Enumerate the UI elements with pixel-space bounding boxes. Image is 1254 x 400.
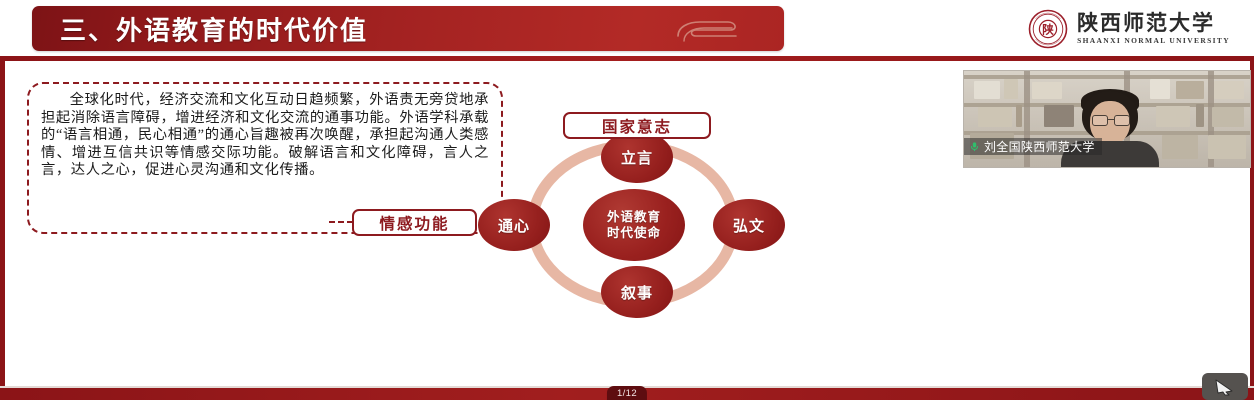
- page-indicator: 1/12: [607, 386, 647, 400]
- glasses-bridge: [1107, 119, 1114, 120]
- book: [1150, 79, 1170, 99]
- book: [1208, 135, 1246, 159]
- book: [1044, 105, 1074, 127]
- speaker-name-text: 刘全国陕西师范大学: [984, 138, 1095, 155]
- body-paragraph: 全球化时代，经济交流和文化互动日趋频繁，外语责无旁贷地承担起消除语言障碍，增进经…: [29, 84, 501, 186]
- book: [1156, 106, 1190, 127]
- book: [1162, 135, 1198, 159]
- diagram-center-line2: 时代使命: [607, 225, 661, 241]
- nav-pointer-button[interactable]: [1202, 373, 1248, 400]
- slide-root: 三、外语教育的时代价值 陕 陕西师范大学 SHAANXI NORMAL UNIV…: [0, 0, 1254, 400]
- diagram-node-right: 弘文: [713, 199, 785, 251]
- pointer-arrow-icon: [1212, 378, 1238, 396]
- callout-emotional-function: 情感功能: [352, 209, 477, 236]
- book: [1176, 81, 1204, 99]
- left-accent-rail: [0, 61, 5, 388]
- callout-connector-line: [329, 221, 353, 223]
- header-divider: [0, 56, 1254, 61]
- page-title: 三、外语教育的时代价值: [60, 10, 368, 47]
- book: [1212, 107, 1244, 127]
- glasses-lens-left: [1092, 115, 1108, 126]
- diagram-node-bottom: 叙事: [601, 266, 673, 318]
- logo-name-cn: 陕西师范大学: [1077, 13, 1230, 34]
- speaker-name-badge: 刘全国陕西师范大学: [964, 138, 1102, 155]
- book: [1196, 104, 1204, 127]
- mission-diagram: 国家意志 情感功能 立言 弘文 叙事 通心 外语教育 时代使命: [470, 100, 830, 335]
- glasses-lens-right: [1114, 115, 1130, 126]
- book: [1032, 82, 1062, 99]
- logo-name-en: SHAANXI NORMAL UNIVERSITY: [1077, 37, 1230, 45]
- slide-header: 三、外语教育的时代价值 陕 陕西师范大学 SHAANXI NORMAL UNIV…: [0, 0, 1254, 58]
- callout-national-will: 国家意志: [563, 112, 711, 139]
- book: [978, 107, 1012, 127]
- book: [974, 81, 1000, 99]
- book: [1016, 105, 1022, 127]
- university-logo: 陕 陕西师范大学 SHAANXI NORMAL UNIVERSITY: [1028, 7, 1230, 51]
- speaker-video-panel[interactable]: 刘全国陕西师范大学: [963, 70, 1251, 168]
- cloud-wave-motif-icon: [666, 14, 746, 44]
- university-seal-icon: 陕: [1028, 9, 1068, 49]
- diagram-node-center: 外语教育 时代使命: [583, 189, 685, 261]
- title-banner: 三、外语教育的时代价值: [32, 6, 784, 51]
- diagram-node-left: 通心: [478, 199, 550, 251]
- logo-wordmark: 陕西师范大学 SHAANXI NORMAL UNIVERSITY: [1077, 13, 1230, 45]
- seal-character: 陕: [1042, 22, 1054, 36]
- book: [1214, 81, 1244, 99]
- book: [1004, 79, 1018, 99]
- diagram-center-line1: 外语教育: [607, 209, 661, 225]
- microphone-icon: [969, 141, 980, 152]
